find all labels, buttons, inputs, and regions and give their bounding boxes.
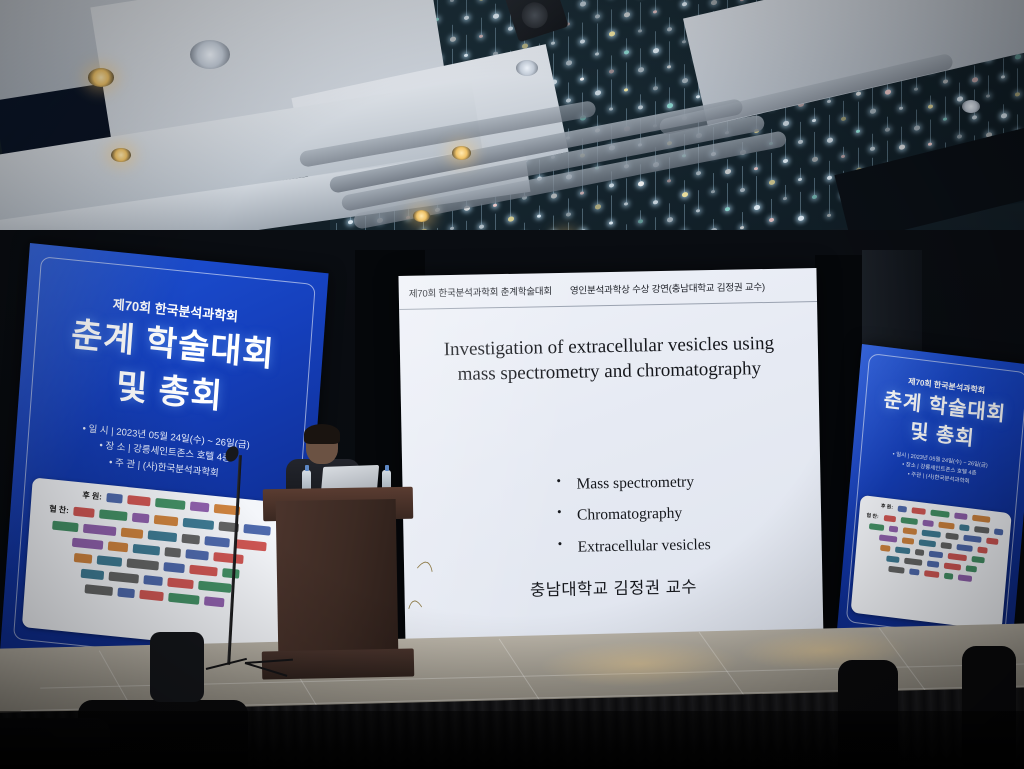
foreground-shadow [0,711,1024,769]
sponsor-logo [977,546,987,553]
sponsor-logo [971,556,984,564]
pendant-light [870,108,876,113]
pendant-rod [713,173,714,190]
pendant-rod [495,4,496,14]
sponsor-logo [244,524,272,536]
pendant-light [580,77,584,81]
recessed-downlight-warm-icon [88,68,114,87]
pendant-light [348,220,353,224]
pendant-light [856,91,861,95]
pendant-light [609,221,613,225]
slide-surface: 제70회 한국분석과학회 춘계학술대회 영인분석과학상 수상 강연(충남대학교 … [398,268,823,648]
pendant-light [783,197,787,201]
sponsor-logo [181,534,200,545]
sponsor-logo [928,551,942,559]
sponsor-logo [73,507,95,518]
pendant-rod [669,17,670,27]
sponsor-category-label: 후 원: [82,490,102,503]
pendant-light [928,142,932,146]
lectern-body [276,499,399,657]
pendant-light [566,212,571,216]
sponsor-logo [85,584,114,596]
sponsor-logo [143,575,163,586]
pendant-rod [626,178,627,202]
pendant-light [638,219,643,223]
pendant-rod [698,190,699,209]
pendant-rod [640,2,641,29]
sponsor-logo [108,541,129,552]
pendant-light [609,31,615,36]
sponsor-logo [120,528,143,539]
pendant-light [450,0,454,2]
pendant-rod [466,35,467,54]
sponsor-logo [185,549,209,560]
sponsor-logo [74,553,93,564]
sponsor-logo [204,536,230,548]
sponsor-logo [974,525,989,533]
pendant-rod [655,171,656,200]
sponsor-logo [139,590,164,601]
pendant-light [551,193,557,198]
pendant-light [740,226,744,230]
sponsor-logo [108,572,139,584]
slide-bullet-item: Mass spectrometry [554,463,823,501]
pendant-light [957,96,963,101]
pendant-rod [640,48,641,67]
sponsor-logo [954,512,967,520]
pendant-light [957,134,962,138]
pendant-light [914,87,918,91]
pendant-rod [916,110,917,126]
pendant-light [580,191,584,195]
pendant-rod [626,38,627,50]
pendant-light [493,13,499,18]
slide-header-right: 영인분석과학상 수상 강연(충남대학교 김정권 교수) [570,279,765,297]
sponsor-logo [163,562,185,573]
banner-right-sponsor-panel: 후 원:협 찬: [851,495,1012,631]
sponsor-logo [904,558,922,566]
pendant-light [479,0,484,1]
pendant-light [972,115,977,119]
pendant-rod [988,121,989,132]
pendant-rod [640,94,641,105]
pendant-light [638,181,644,186]
pendant-light [638,29,642,33]
pendant-rod [974,65,975,77]
pendant-rod [611,79,612,107]
pendant-rod [1003,104,1004,113]
sponsor-logo [972,514,990,522]
sponsor-logo [922,530,941,538]
sponsor-logo [80,569,104,580]
pendant-rod [568,36,569,60]
sponsor-logo [956,544,972,552]
pendant-rod [452,25,453,37]
recessed-downlight-cool-icon [516,60,538,76]
pendant-light [624,50,629,54]
sponsor-logo [898,505,907,512]
pendant-light [943,117,947,121]
sponsor-logo [944,573,953,580]
sponsor-logo [958,574,972,582]
pendant-rod [568,198,569,212]
pendant-light [827,175,832,179]
sponsor-logo [986,538,998,545]
pendant-light [624,88,628,92]
pendant-rod [814,178,815,195]
pendant-rod [858,148,859,168]
pendant-rod [800,192,801,216]
pendant-rod [814,132,815,157]
pendant-rod [597,185,598,204]
sponsor-logo [903,527,917,535]
pendant-rod [785,185,786,197]
pendant-rod [1017,68,1018,92]
pendant-light [566,98,571,102]
pendant-light [493,204,497,208]
sponsor-logo [959,524,969,531]
pendant-light [899,106,903,110]
sponsor-logo [943,562,960,570]
pendant-light [638,105,643,109]
sponsor-logo [900,516,917,524]
pendant-rod [466,0,467,16]
pendant-light [638,67,644,72]
pendant-light [827,100,831,104]
pendant-light [812,119,816,123]
pendant-rod [684,204,685,230]
sponsor-logo [97,555,123,567]
pendant-light [1015,92,1020,96]
banner-right: 제70회 한국분석과학회 춘계 학술대회 및 총회 • 일시 | 2023년 0… [837,344,1024,650]
pendant-light [725,169,731,174]
pendant-rod [611,195,612,221]
sponsor-logo [947,553,966,561]
stage-light-pool-1 [539,639,740,690]
pendant-light [479,224,484,228]
pendant-light [696,95,700,99]
pendant-light [508,26,513,30]
pendant-rod [655,31,656,48]
pendant-rod [742,212,743,226]
pendant-rod [858,102,859,130]
pendant-light [682,2,687,6]
pendant-rod [568,12,569,22]
slide-title: Investigation of extracellular vesicles … [400,330,819,389]
sponsor-logo [963,535,981,543]
pendant-rod [684,64,685,78]
pendant-rod [669,41,670,65]
pendant-light [827,137,833,142]
pendant-light [624,12,630,17]
sponsor-logo [133,544,161,556]
sponsor-logo [99,509,128,521]
sponsor-logo [222,568,240,579]
pendant-rod [655,77,656,86]
pendant-rod [582,68,583,77]
pendant-rod [988,75,989,94]
sponsor-logo [945,533,958,541]
pendant-rod [539,205,540,214]
sponsor-logo [82,524,116,536]
sponsor-logo [234,539,267,551]
pendant-light [943,79,948,83]
pendant-light [537,214,541,218]
conference-photo-scene: 제70회 한국분석과학회 춘계 학술대회 및 총회 • 일 시 | 2023년 … [0,0,1024,769]
pendant-rod [959,82,960,96]
pendant-light [696,171,701,175]
pendant-light [479,34,483,38]
pendant-light [885,127,890,131]
pendant-light [754,167,758,171]
sponsor-logo [886,555,899,563]
sponsor-logo [994,528,1003,535]
sponsor-logo [909,568,919,575]
slide-bullet-item: Extracellular vesicles [555,527,823,565]
pendant-light [653,10,657,14]
pendant-rod [684,180,685,192]
pendant-light [595,52,599,56]
pendant-rod [930,120,931,143]
sponsor-logo [901,537,913,544]
pendant-light [928,104,933,108]
pendant-rod [655,0,656,10]
sponsor-logo [965,565,976,572]
pendant-rod [829,161,830,176]
pendant-light [856,130,860,134]
pendant-light [580,39,585,43]
pendant-rod [669,203,670,217]
pendant-light [1001,75,1005,79]
sponsor-logo [914,549,923,556]
pendant-light [812,156,818,161]
pendant-light [682,78,688,83]
slide-bullet-item: Chromatography [555,495,824,533]
sponsor-logo [213,552,244,564]
sponsor-logo [918,539,935,547]
banner-left-sponsor-panel: 후 원:협 찬: [22,477,292,653]
sponsor-logo [52,521,79,533]
pendant-light [798,178,802,182]
presenter-hair [304,424,340,444]
pendant-rod [611,9,612,31]
sponsor-logo [168,593,200,605]
sponsor-logo [72,538,104,550]
slide-header-left: 제70회 한국분석과학회 춘계학술대회 [409,283,552,300]
slide-speaker-line: 충남대학교 김정권 교수 [404,571,822,603]
pendant-light [595,204,601,209]
pendant-rod [872,88,873,109]
pendant-rod [640,210,641,219]
pendant-light [986,94,990,98]
pendant-rod [771,153,772,180]
sponsor-logo [924,570,939,578]
pendant-light [653,86,658,90]
pendant-rod [626,0,627,12]
sponsor-logo [912,507,926,515]
pendant-rod [553,54,554,80]
sponsor-logo [183,518,215,530]
pendant-light [508,216,514,221]
pendant-rod [626,62,627,88]
sponsor-category-label: 협 찬: [49,503,69,516]
pendant-light [769,179,775,184]
pendant-rod [800,168,801,178]
pendant-light [783,120,789,125]
pendant-light [711,0,717,5]
sponsor-logo [189,565,218,577]
sponsor-category-label: 협 찬: [866,512,879,520]
sponsor-logo [926,560,938,567]
sponsor-logo [880,545,890,552]
pendant-rod [959,106,960,134]
pendant-light [682,40,686,44]
sponsor-logo [117,588,135,599]
recessed-downlight-cool-icon [962,100,980,113]
pendant-rod [568,82,569,98]
sponsor-logo [869,523,884,531]
pendant-rod [481,204,482,225]
sponsor-logo [198,581,232,593]
pendant-rod [727,159,728,169]
pendant-light [725,207,730,211]
pendant-light [595,14,600,18]
pendant-rod [727,183,728,207]
sponsor-logo [190,501,210,512]
pendant-light [754,205,760,210]
pendant-light [551,41,555,45]
pendant-light [609,69,614,73]
pendant-rod [1003,58,1004,75]
pendant-light [653,48,659,53]
pendant-light [1001,113,1007,118]
pendant-light [914,125,920,130]
pendant-light [740,188,745,192]
pendant-light [972,77,978,82]
pendant-rod [843,101,844,117]
pendant-light [464,54,468,58]
pendant-rod [669,87,670,103]
pendant-rod [901,127,902,145]
sponsor-logo [938,521,954,529]
sponsor-logo [154,515,179,526]
pendant-rod [713,219,714,228]
pendant-rod [829,185,830,214]
pendant-light [870,146,875,150]
pendant-light [798,215,804,220]
pendant-rod [756,176,757,205]
pendant-rod [800,122,801,140]
pendant-rod [829,115,830,138]
sponsor-logo [204,596,225,607]
pendant-light [841,155,845,159]
pendant-rod [582,22,583,39]
pendant-rod [945,96,946,117]
pendant-light [769,218,774,222]
pendant-light [740,0,744,1]
pendant-light [653,200,658,204]
pendant-light [464,15,469,19]
slide-header: 제70회 한국분석과학회 춘계학술대회 영인분석과학상 수상 강연(충남대학교 … [398,268,817,310]
pendant-rod [901,81,902,107]
pendant-rod [887,117,888,128]
pendant-light [450,36,456,41]
pendant-light [682,192,688,197]
sponsor-logo [889,526,898,533]
pendant-rod [756,152,757,167]
sponsor-logo [127,558,160,570]
pendant-rod [611,55,612,69]
pendant-light [667,179,671,183]
pendant-rod [771,199,772,218]
sponsor-logo [167,577,194,589]
pendant-rod [742,166,743,188]
pendant-light [667,65,671,69]
pendant-rod [437,0,438,18]
pendant-light [667,103,673,108]
pendant-light [711,190,715,194]
pendant-rod [814,108,815,119]
pendant-rod [1017,114,1018,130]
projection-screen: 제70회 한국분석과학회 춘계학술대회 영인분석과학상 수상 강연(충남대학교 … [398,268,823,648]
pendant-light [595,90,601,95]
pendant-rod [597,69,598,90]
stage-chair-left [150,632,204,702]
sponsor-logo [940,542,951,549]
pendant-rod [481,18,482,35]
sponsor-logo [155,498,186,510]
pendant-light [609,107,613,111]
pendant-rod [582,208,583,229]
pendant-rod [495,28,496,52]
pendant-light [783,159,788,163]
sponsor-logo [147,530,177,542]
pendant-light [696,209,700,213]
sponsor-logo [127,495,151,506]
pendant-light [841,116,846,120]
pendant-light [566,60,572,65]
sponsor-logo [164,547,181,558]
recessed-downlight-warm-icon [452,146,471,160]
pendant-rod [930,96,931,105]
sponsor-logo [894,546,909,554]
pendant-light [798,140,803,144]
pendant-rod [843,147,844,155]
sponsor-logo [878,534,896,542]
pendant-light [885,89,891,94]
pendant-rod [452,211,453,227]
pendant-rod [597,0,598,14]
pendant-light [667,217,673,222]
pendant-light [667,27,672,31]
pendant-rod [597,23,598,52]
pendant-rod [872,134,873,147]
sponsor-logo [922,519,933,526]
pendant-light [580,1,586,6]
recessed-downlight-cool-icon [190,40,230,69]
pendant-light [812,195,817,199]
sponsor-category-label: 후 원: [881,502,894,510]
pendant-light [624,202,628,206]
sponsor-logo [930,509,949,517]
slide-bullet-list: Mass spectrometryChromatographyExtracell… [514,463,823,565]
sponsor-logo [888,566,904,574]
pendant-light [827,214,831,218]
sponsor-logo [132,513,150,524]
pendant-light [609,183,614,187]
pendant-light [899,144,905,149]
sponsor-logo [107,493,124,504]
